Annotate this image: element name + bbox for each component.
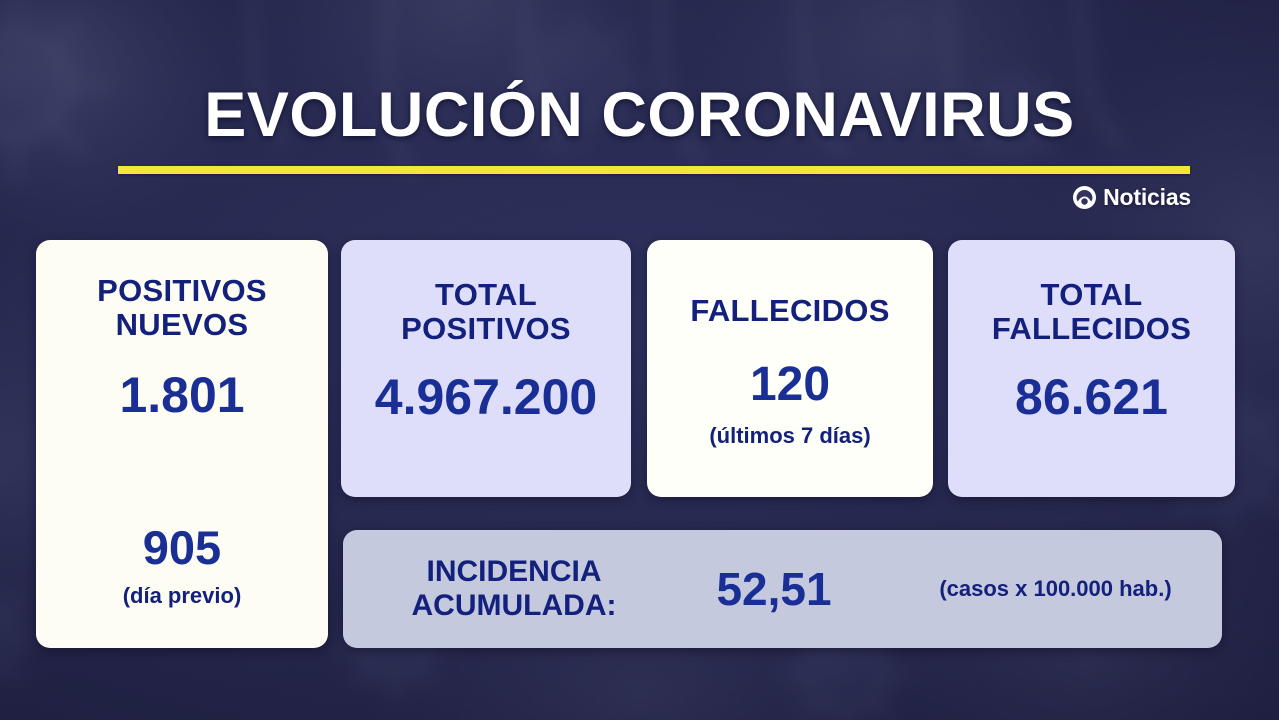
card-label-line2: FALLECIDOS [992,311,1191,346]
card-label-line2: NUEVOS [116,307,249,342]
card-value-total-fallecidos: 86.621 [1015,372,1168,422]
card-value-fallecidos: 120 [750,361,830,409]
card-note-ultimos-7-dias: (últimos 7 días) [709,425,870,447]
incidencia-label-line1: INCIDENCIA [426,555,601,588]
title-divider [118,166,1190,174]
card-note-dia-previo: (día previo) [123,585,242,607]
incidencia-unit: (casos x 100.000 hab.) [889,578,1222,600]
card-value-positivos-nuevos-previo: 905 [143,524,221,571]
stat-card-positivos-nuevos: POSITIVOS NUEVOS 1.801 905 (día previo) [36,240,328,648]
card-label-line1: TOTAL [1041,277,1143,312]
coronavirus-evolution-infographic: EVOLUCIÓN CORONAVIRUS Noticias POSITIVOS… [0,0,1279,720]
card-label-line1: TOTAL [435,277,537,312]
stat-card-total-fallecidos: TOTAL FALLECIDOS 86.621 [948,240,1235,497]
card-label-line2: POSITIVOS [401,311,571,346]
card-label-line1: POSITIVOS [97,273,267,308]
card-label-total-positivos: TOTAL POSITIVOS [401,278,571,346]
stat-bar-incidencia-acumulada: INCIDENCIA ACUMULADA: 52,51 (casos x 100… [343,530,1222,648]
brand-name: Noticias [1103,186,1191,209]
card-value-total-positivos: 4.967.200 [375,372,597,422]
brand-logo: Noticias [1072,183,1191,211]
page-title: EVOLUCIÓN CORONAVIRUS [0,84,1279,147]
incidencia-label-line2: ACUMULADA: [412,589,617,622]
card-label-fallecidos: FALLECIDOS [690,294,889,328]
card-label-total-fallecidos: TOTAL FALLECIDOS [992,278,1191,346]
incidencia-value: 52,51 [659,566,889,612]
antena3-circle-a-icon [1072,185,1097,210]
card-label-positivos-nuevos: POSITIVOS NUEVOS [97,274,267,342]
card-value-positivos-nuevos: 1.801 [119,370,244,420]
stat-card-total-positivos: TOTAL POSITIVOS 4.967.200 [341,240,631,497]
incidencia-label: INCIDENCIA ACUMULADA: [369,555,659,622]
stat-card-fallecidos: FALLECIDOS 120 (últimos 7 días) [647,240,933,497]
